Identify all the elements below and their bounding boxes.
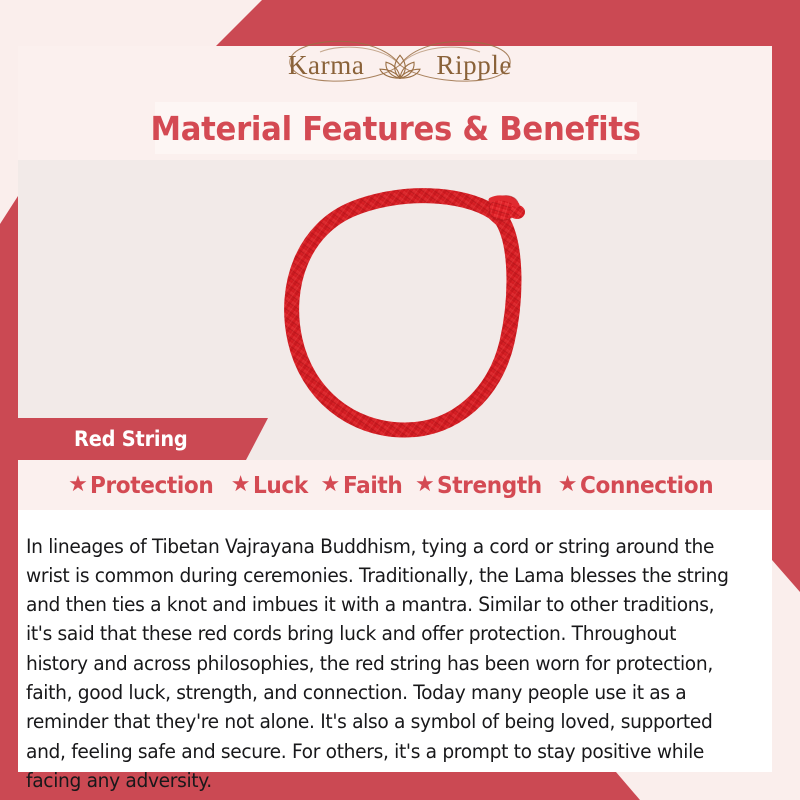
lotus-flower-icon xyxy=(378,51,422,81)
bracelet-cord-texture xyxy=(292,196,514,430)
feature-label: Protection xyxy=(90,473,213,499)
feature-item: ★ Protection xyxy=(68,473,222,499)
feature-label: Connection xyxy=(580,473,713,499)
star-icon: ★ xyxy=(68,474,87,496)
star-icon: ★ xyxy=(231,474,250,496)
product-label: Red String xyxy=(74,427,188,451)
infographic-card: Karma Ripple Material Features & Benefit… xyxy=(0,0,800,800)
brand-logo: Karma Ripple xyxy=(0,34,800,96)
description-paragraph: In lineages of Tibetan Vajrayana Buddhis… xyxy=(26,532,733,796)
brand-name-left: Karma xyxy=(288,52,364,79)
brand-name-right: Ripple xyxy=(436,52,512,79)
frame-left-bar xyxy=(0,196,18,800)
star-icon: ★ xyxy=(415,474,434,496)
feature-item: ★ Connection xyxy=(558,473,722,499)
star-icon: ★ xyxy=(558,474,577,496)
feature-label: Faith xyxy=(343,473,402,499)
page-title-banner: Material Features & Benefits xyxy=(155,102,637,154)
page-title: Material Features & Benefits xyxy=(151,109,641,148)
brand-logo-inner: Karma Ripple xyxy=(250,34,550,96)
feature-item: ★ Faith xyxy=(320,473,405,499)
star-icon: ★ xyxy=(320,474,339,496)
product-label-banner: Red String xyxy=(18,418,268,460)
feature-list: ★ Protection ★ Luck ★ Faith ★ Strength ★… xyxy=(18,464,772,508)
feature-label: Strength xyxy=(437,473,542,499)
product-photo-red-string-bracelet xyxy=(255,172,555,452)
feature-item: ★ Luck xyxy=(231,473,312,499)
feature-item: ★ Strength xyxy=(415,473,549,499)
feature-label: Luck xyxy=(253,473,308,499)
